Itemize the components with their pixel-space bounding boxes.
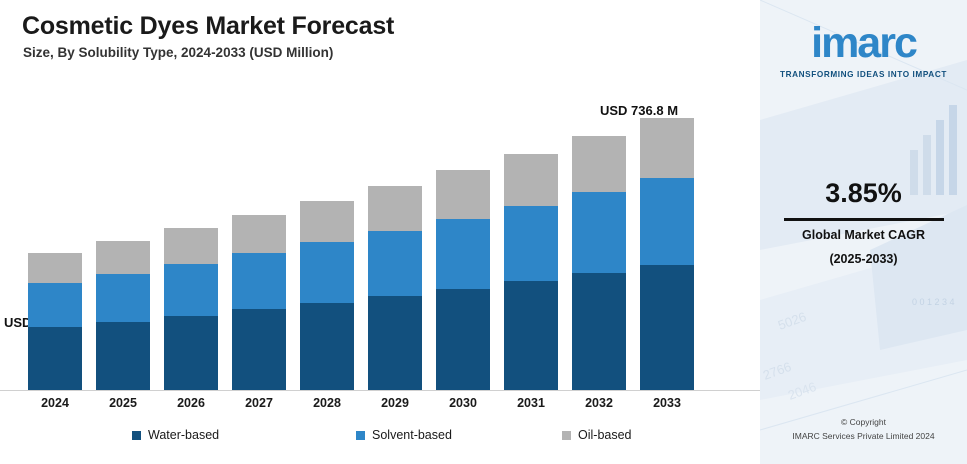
legend-label: Water-based [148, 428, 219, 442]
chart-title: Cosmetic Dyes Market Forecast [22, 12, 394, 41]
brand-panel: 0 0 1 2 3 4 5026 2766 2046 imarc TRANSFO… [760, 0, 967, 464]
bar-segment-solvent-based [96, 274, 150, 322]
x-axis-labels: 2024202520262027202820292030203120322033 [0, 396, 760, 418]
bar-2033 [640, 118, 694, 390]
x-label-2025: 2025 [88, 396, 158, 410]
legend-swatch-icon [356, 431, 365, 440]
bar-segment-solvent-based [300, 242, 354, 303]
bar-segment-water-based [436, 289, 490, 390]
bar-2027 [232, 215, 286, 390]
bar-2025 [96, 241, 150, 390]
legend-label: Oil-based [578, 428, 632, 442]
bar-2030 [436, 170, 490, 390]
bar-segment-oil-based [504, 154, 558, 206]
bar-segment-water-based [368, 296, 422, 390]
bar-segment-oil-based [572, 136, 626, 192]
legend-item-solvent-based[interactable]: Solvent-based [356, 428, 452, 442]
chart-page: Cosmetic Dyes Market Forecast Size, By S… [0, 0, 967, 464]
x-label-2030: 2030 [428, 396, 498, 410]
bar-group [0, 90, 760, 390]
bar-segment-oil-based [96, 241, 150, 274]
bar-segment-oil-based [232, 215, 286, 254]
bar-segment-oil-based [640, 118, 694, 178]
x-label-2029: 2029 [360, 396, 430, 410]
chart-panel: Cosmetic Dyes Market Forecast Size, By S… [0, 0, 760, 464]
bar-2031 [504, 154, 558, 390]
copyright-line-1: © Copyright [760, 417, 967, 427]
x-label-2028: 2028 [292, 396, 362, 410]
imarc-logo: imarc TRANSFORMING IDEAS INTO IMPACT [760, 22, 967, 79]
plot-area [0, 90, 760, 390]
bar-2026 [164, 228, 218, 390]
bar-segment-water-based [164, 316, 218, 390]
bar-segment-water-based [300, 303, 354, 390]
bar-segment-water-based [232, 309, 286, 390]
bar-segment-water-based [640, 265, 694, 390]
bar-2029 [368, 186, 422, 390]
copyright-line-2: IMARC Services Private Limited 2024 [760, 431, 967, 441]
cagr-value: 3.85% [760, 178, 967, 209]
bar-segment-water-based [572, 273, 626, 390]
legend-swatch-icon [562, 431, 571, 440]
legend-item-water-based[interactable]: Water-based [132, 428, 219, 442]
bar-segment-solvent-based [436, 219, 490, 289]
bar-segment-solvent-based [28, 283, 82, 327]
chart-subtitle: Size, By Solubility Type, 2024-2033 (USD… [23, 45, 333, 60]
cagr-period: (2025-2033) [760, 252, 967, 266]
bar-segment-solvent-based [640, 178, 694, 265]
bar-2032 [572, 136, 626, 390]
bar-2024 [28, 253, 82, 390]
cagr-label: Global Market CAGR [760, 228, 967, 242]
svg-text:0 0 1 2 3 4: 0 0 1 2 3 4 [912, 297, 955, 307]
legend-item-oil-based[interactable]: Oil-based [562, 428, 632, 442]
bar-segment-oil-based [436, 170, 490, 218]
bar-segment-solvent-based [368, 231, 422, 296]
bar-segment-solvent-based [572, 192, 626, 273]
bar-segment-water-based [28, 327, 82, 390]
x-label-2026: 2026 [156, 396, 226, 410]
bar-segment-water-based [504, 281, 558, 390]
chart-legend: Water-basedSolvent-basedOil-based [0, 428, 760, 452]
logo-wordmark: imarc [760, 22, 967, 65]
bar-segment-oil-based [368, 186, 422, 231]
bar-segment-water-based [96, 322, 150, 390]
bar-segment-solvent-based [164, 264, 218, 316]
x-label-2024: 2024 [20, 396, 90, 410]
x-label-2027: 2027 [224, 396, 294, 410]
legend-label: Solvent-based [372, 428, 452, 442]
bar-segment-oil-based [164, 228, 218, 264]
bar-segment-oil-based [28, 253, 82, 283]
bar-segment-oil-based [300, 201, 354, 243]
x-label-2032: 2032 [564, 396, 634, 410]
x-label-2033: 2033 [632, 396, 702, 410]
x-axis-line [0, 390, 760, 391]
bar-segment-solvent-based [504, 206, 558, 282]
legend-swatch-icon [132, 431, 141, 440]
bar-segment-solvent-based [232, 253, 286, 309]
cagr-divider [784, 218, 944, 221]
logo-tagline: TRANSFORMING IDEAS INTO IMPACT [760, 70, 967, 79]
bar-2028 [300, 201, 354, 390]
x-label-2031: 2031 [496, 396, 566, 410]
